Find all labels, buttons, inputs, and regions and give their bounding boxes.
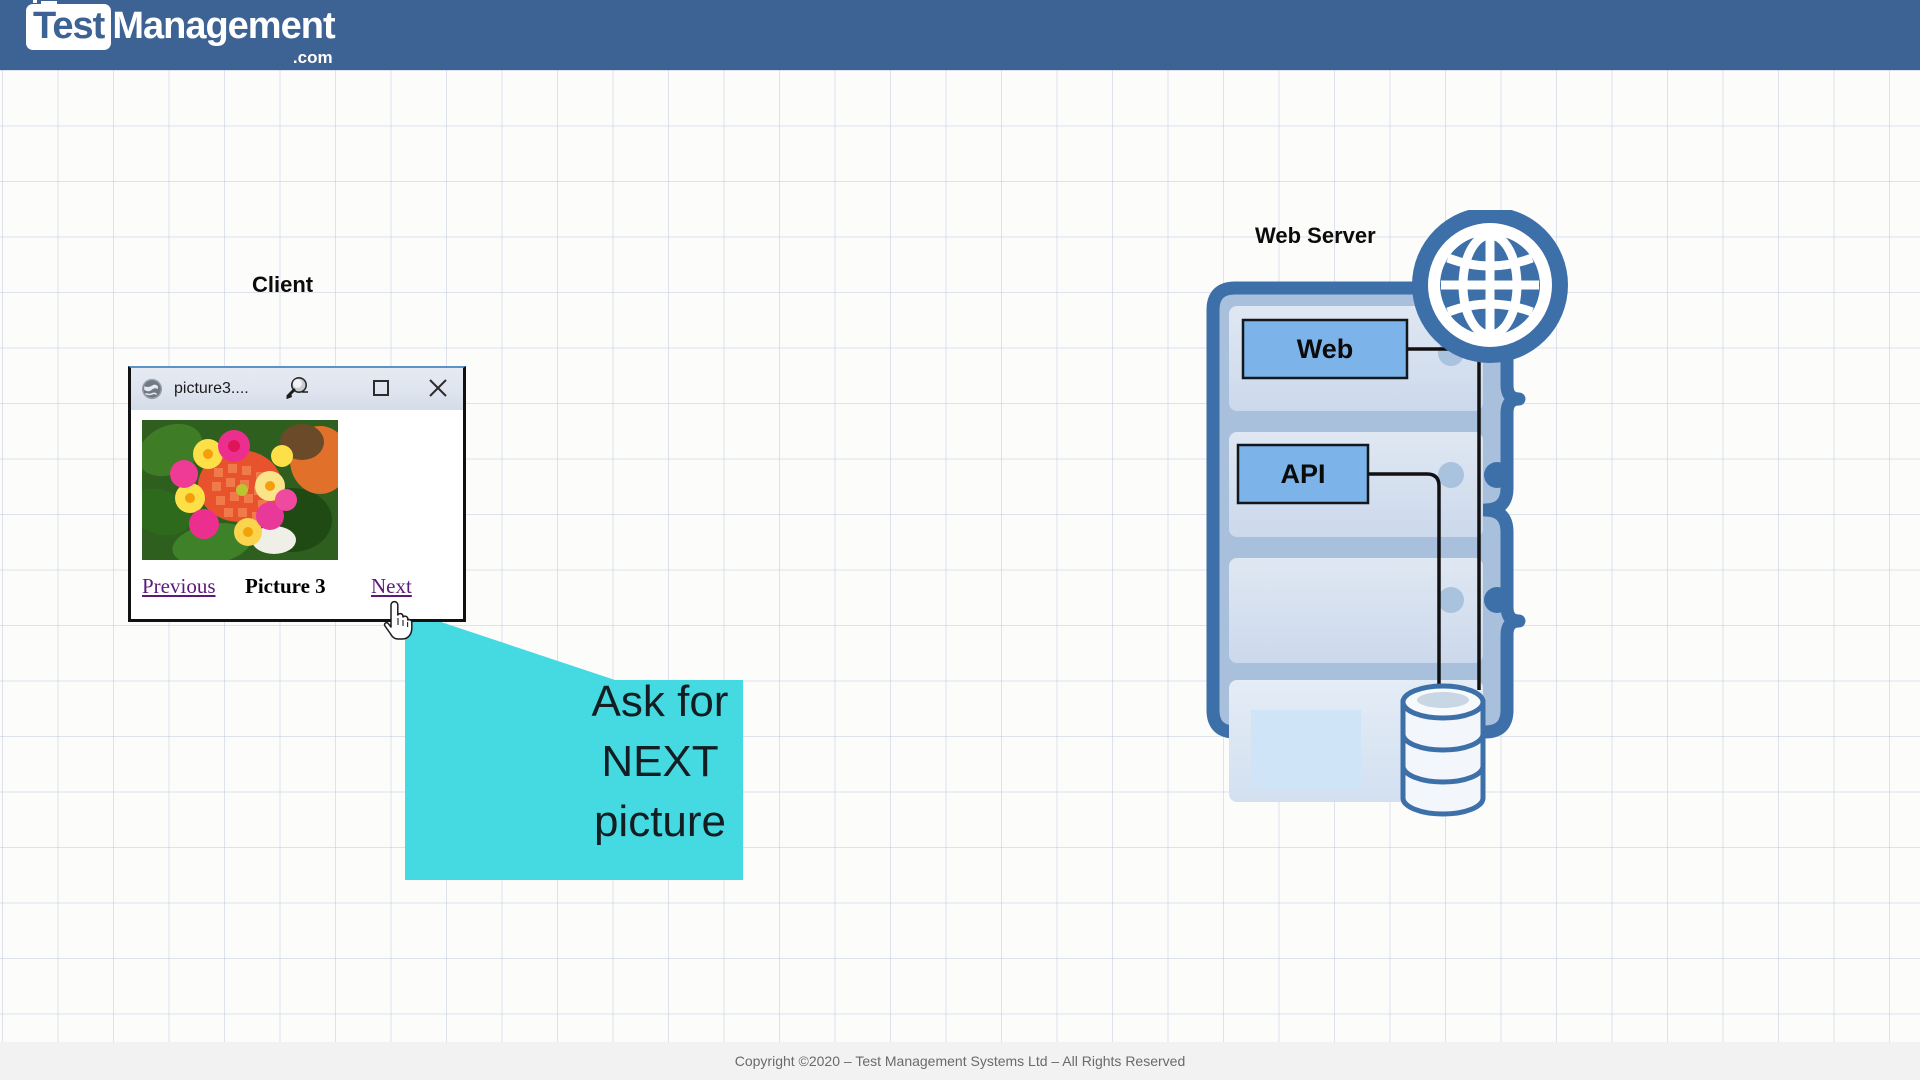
picture-caption: Picture 3	[245, 574, 326, 599]
logo-management-text: Management	[112, 5, 334, 47]
close-icon[interactable]	[427, 377, 449, 399]
callout-body	[405, 680, 743, 880]
site-footer: Copyright ©2020 – Test Management System…	[0, 1042, 1920, 1080]
server-bay-4-panel	[1251, 710, 1361, 790]
picture-image	[142, 420, 338, 560]
logo-com-text: .com	[293, 49, 333, 66]
site-logo[interactable]: TestManagement .com	[26, 8, 335, 62]
web-server-diagram: Web API	[1205, 210, 1635, 820]
server-slot-api: API	[1238, 445, 1368, 503]
copyright-text: Copyright ©2020 – Test Management System…	[735, 1053, 1186, 1069]
maximize-icon[interactable]	[373, 380, 389, 396]
magnifier-icon[interactable]	[283, 374, 311, 402]
server-slot-web: Web	[1243, 320, 1407, 378]
pointer-hand-cursor	[381, 597, 415, 641]
led-indicator	[1438, 462, 1464, 488]
client-label: Client	[252, 272, 313, 298]
led-indicator	[1484, 587, 1510, 613]
logo-test-text: Test	[26, 4, 111, 50]
browser-title-text: picture3....	[174, 380, 249, 398]
globe-icon	[141, 378, 163, 400]
led-indicator	[1484, 462, 1510, 488]
database-cylinder	[1403, 686, 1483, 814]
previous-link[interactable]: Previous	[142, 574, 216, 599]
server-slot-api-label: API	[1280, 459, 1325, 489]
callout-bubble: Ask for NEXT picture	[400, 600, 940, 890]
next-link[interactable]: Next	[371, 574, 412, 599]
canvas: TestManagement .com Client Web Server	[0, 0, 1920, 1080]
logo-dots-icon	[31, 0, 59, 6]
browser-titlebar[interactable]: picture3....	[131, 368, 463, 411]
site-header: TestManagement .com	[0, 0, 1920, 70]
browser-window[interactable]: picture3....	[128, 366, 466, 622]
server-slot-web-label: Web	[1297, 334, 1354, 364]
led-indicator	[1438, 587, 1464, 613]
